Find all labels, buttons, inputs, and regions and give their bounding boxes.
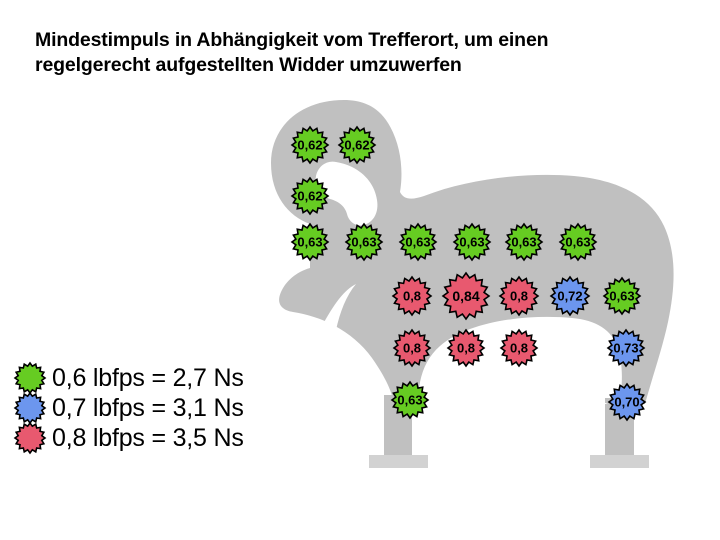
- data-marker-p18[interactable]: 0,73: [605, 327, 647, 369]
- data-marker-p10[interactable]: 0,8: [390, 274, 434, 318]
- starburst-green-icon: [557, 221, 599, 263]
- starburst-red-icon: [498, 327, 540, 369]
- legend-swatch-red: [8, 423, 52, 453]
- data-marker-p15[interactable]: 0,8: [391, 327, 433, 369]
- data-marker-p08[interactable]: 0,63: [503, 221, 545, 263]
- starburst-blue-icon: [606, 381, 648, 423]
- legend-label: 0,6 lbfps = 2,7 Ns: [52, 363, 244, 393]
- data-marker-p16[interactable]: 0,8: [445, 327, 487, 369]
- legend-label: 0,7 lbfps = 3,1 Ns: [52, 393, 244, 423]
- data-marker-p02[interactable]: 0,62: [336, 124, 378, 166]
- rear-hoof-base: [590, 455, 649, 468]
- data-marker-p12[interactable]: 0,8: [497, 274, 541, 318]
- legend-swatch-blue: [8, 393, 52, 423]
- legend-item-green: 0,6 lbfps = 2,7 Ns: [8, 363, 308, 393]
- ram-silhouette-graphic: [0, 0, 720, 540]
- starburst-blue-icon: [605, 327, 647, 369]
- starburst-green-icon: [397, 221, 439, 263]
- starburst-green-icon: [503, 221, 545, 263]
- starburst-red-icon: [12, 420, 48, 456]
- starburst-green-icon: [601, 275, 643, 317]
- starburst-red-icon: [390, 274, 434, 318]
- legend-item-red: 0,8 lbfps = 3,5 Ns: [8, 423, 308, 453]
- data-marker-p06[interactable]: 0,63: [397, 221, 439, 263]
- data-marker-p13[interactable]: 0,72: [548, 274, 592, 318]
- data-marker-p09[interactable]: 0,63: [557, 221, 599, 263]
- data-marker-p05[interactable]: 0,63: [343, 221, 385, 263]
- starburst-green-icon: [336, 124, 378, 166]
- front-hoof-base: [369, 455, 428, 468]
- slide-canvas: Mindestimpuls in Abhängigkeit vom Treffe…: [0, 0, 720, 540]
- data-marker-p04[interactable]: 0,63: [289, 221, 331, 263]
- starburst-red-icon: [391, 327, 433, 369]
- data-marker-p20[interactable]: 0,70: [606, 381, 648, 423]
- starburst-green-icon: [389, 379, 431, 421]
- data-marker-p07[interactable]: 0,63: [451, 221, 493, 263]
- legend-swatch-green: [8, 363, 52, 393]
- data-marker-p03[interactable]: 0,62: [289, 175, 331, 217]
- starburst-red-icon: [440, 270, 492, 322]
- starburst-red-icon: [445, 327, 487, 369]
- starburst-green-icon: [289, 221, 331, 263]
- starburst-blue-icon: [548, 274, 592, 318]
- data-marker-p11[interactable]: 0,84: [440, 270, 492, 322]
- data-marker-p01[interactable]: 0,62: [289, 124, 331, 166]
- data-marker-p19[interactable]: 0,63: [389, 379, 431, 421]
- starburst-green-icon: [343, 221, 385, 263]
- legend: 0,6 lbfps = 2,7 Ns0,7 lbfps = 3,1 Ns0,8 …: [8, 363, 308, 453]
- belly-notch: [414, 387, 608, 404]
- starburst-green-icon: [289, 124, 331, 166]
- legend-label: 0,8 lbfps = 3,5 Ns: [52, 423, 244, 453]
- starburst-red-icon: [497, 274, 541, 318]
- starburst-green-icon: [451, 221, 493, 263]
- data-marker-p14[interactable]: 0,63: [601, 275, 643, 317]
- legend-item-blue: 0,7 lbfps = 3,1 Ns: [8, 393, 308, 423]
- data-marker-p17[interactable]: 0,8: [498, 327, 540, 369]
- starburst-green-icon: [289, 175, 331, 217]
